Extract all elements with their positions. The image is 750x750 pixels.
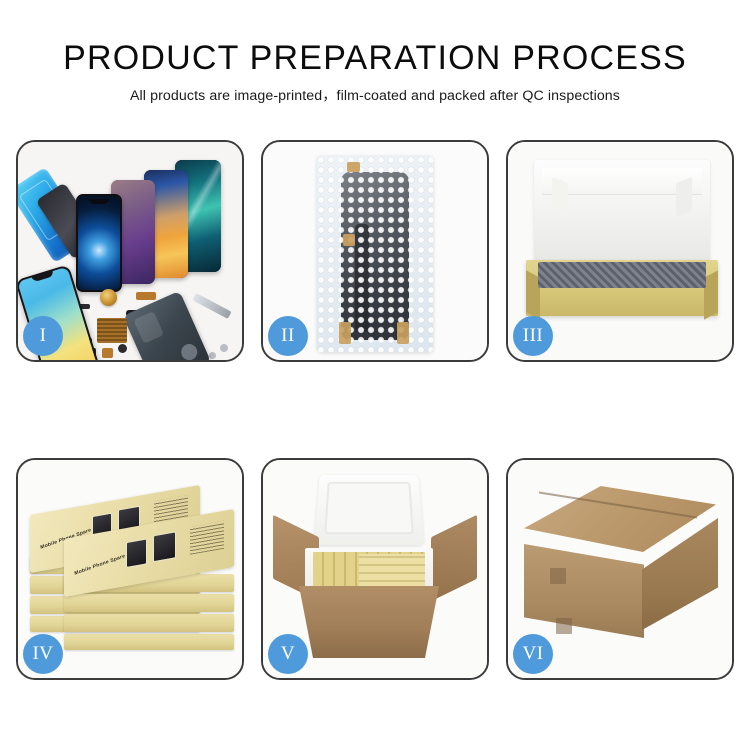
box-text-lines-front [190,521,224,555]
step-badge-4: IV [23,634,63,674]
carton-tab-lower-icon [556,618,572,634]
page-subtitle: All products are image-printed，film-coat… [0,87,750,105]
yellow-tray-icon [526,260,718,316]
white-foam-lid-icon [534,160,710,268]
process-step-panel-5[interactable]: V [261,458,489,680]
phone-lcd-screen-icon [76,194,122,292]
step-badge-5: V [268,634,308,674]
process-step-grid: I II [16,140,734,680]
retail-box-r5 [64,634,234,650]
process-step-panel-2[interactable]: II [261,140,489,362]
header: PRODUCT PREPARATION PROCESS All products… [0,38,750,105]
tape-seal-top-icon [347,162,360,172]
page-title: PRODUCT PREPARATION PROCESS [0,38,750,78]
lid-flap-left-icon [552,177,568,217]
component-button-icon [118,344,127,353]
process-step-panel-6[interactable]: VI [506,458,734,680]
step-badge-6: VI [513,634,553,674]
process-step-panel-3[interactable]: III [506,140,734,362]
tray-side-right-icon [704,270,718,319]
tape-seal-bl-icon [339,322,351,344]
retail-box-r3 [64,594,234,612]
step-badge-2: II [268,316,308,356]
foam-lid-open-icon [314,475,424,545]
circuit-board-icon [97,318,127,343]
retail-box-stack: Mobile Phone Spare Parts Mobile Phone Sp… [26,478,238,666]
box-photo-2-front [153,531,176,562]
carton-front-face-icon [524,544,644,638]
box-photo-1-front [126,538,147,568]
process-step-panel-4[interactable]: Mobile Phone Spare Parts Mobile Phone Sp… [16,458,244,680]
component-gold-icon [102,348,113,358]
carton-tab-upper-icon [550,568,566,584]
component-screw-icon [220,344,228,352]
lid-flap-right-icon [676,177,692,217]
speaker-coil-icon [100,289,117,306]
tweezers-icon [192,293,231,319]
step-badge-1: I [23,316,63,356]
bubble-padding-icon [538,262,706,288]
bubble-texture-icon [317,156,433,352]
yellow-boxes-stack-icon [359,554,425,588]
component-flex-icon [136,292,156,300]
step-badge-3: III [513,316,553,356]
cardboard-carton-icon [299,586,439,658]
tape-seal-mid-icon [343,234,355,246]
retail-box-r4 [64,614,234,632]
product-preparation-infographic: PRODUCT PREPARATION PROCESS All products… [0,0,750,750]
tape-seal-br-icon [397,322,409,344]
process-step-panel-1[interactable]: I [16,140,244,362]
bubble-wrap-bag-icon [317,156,433,352]
component-screw2-icon [209,352,216,359]
